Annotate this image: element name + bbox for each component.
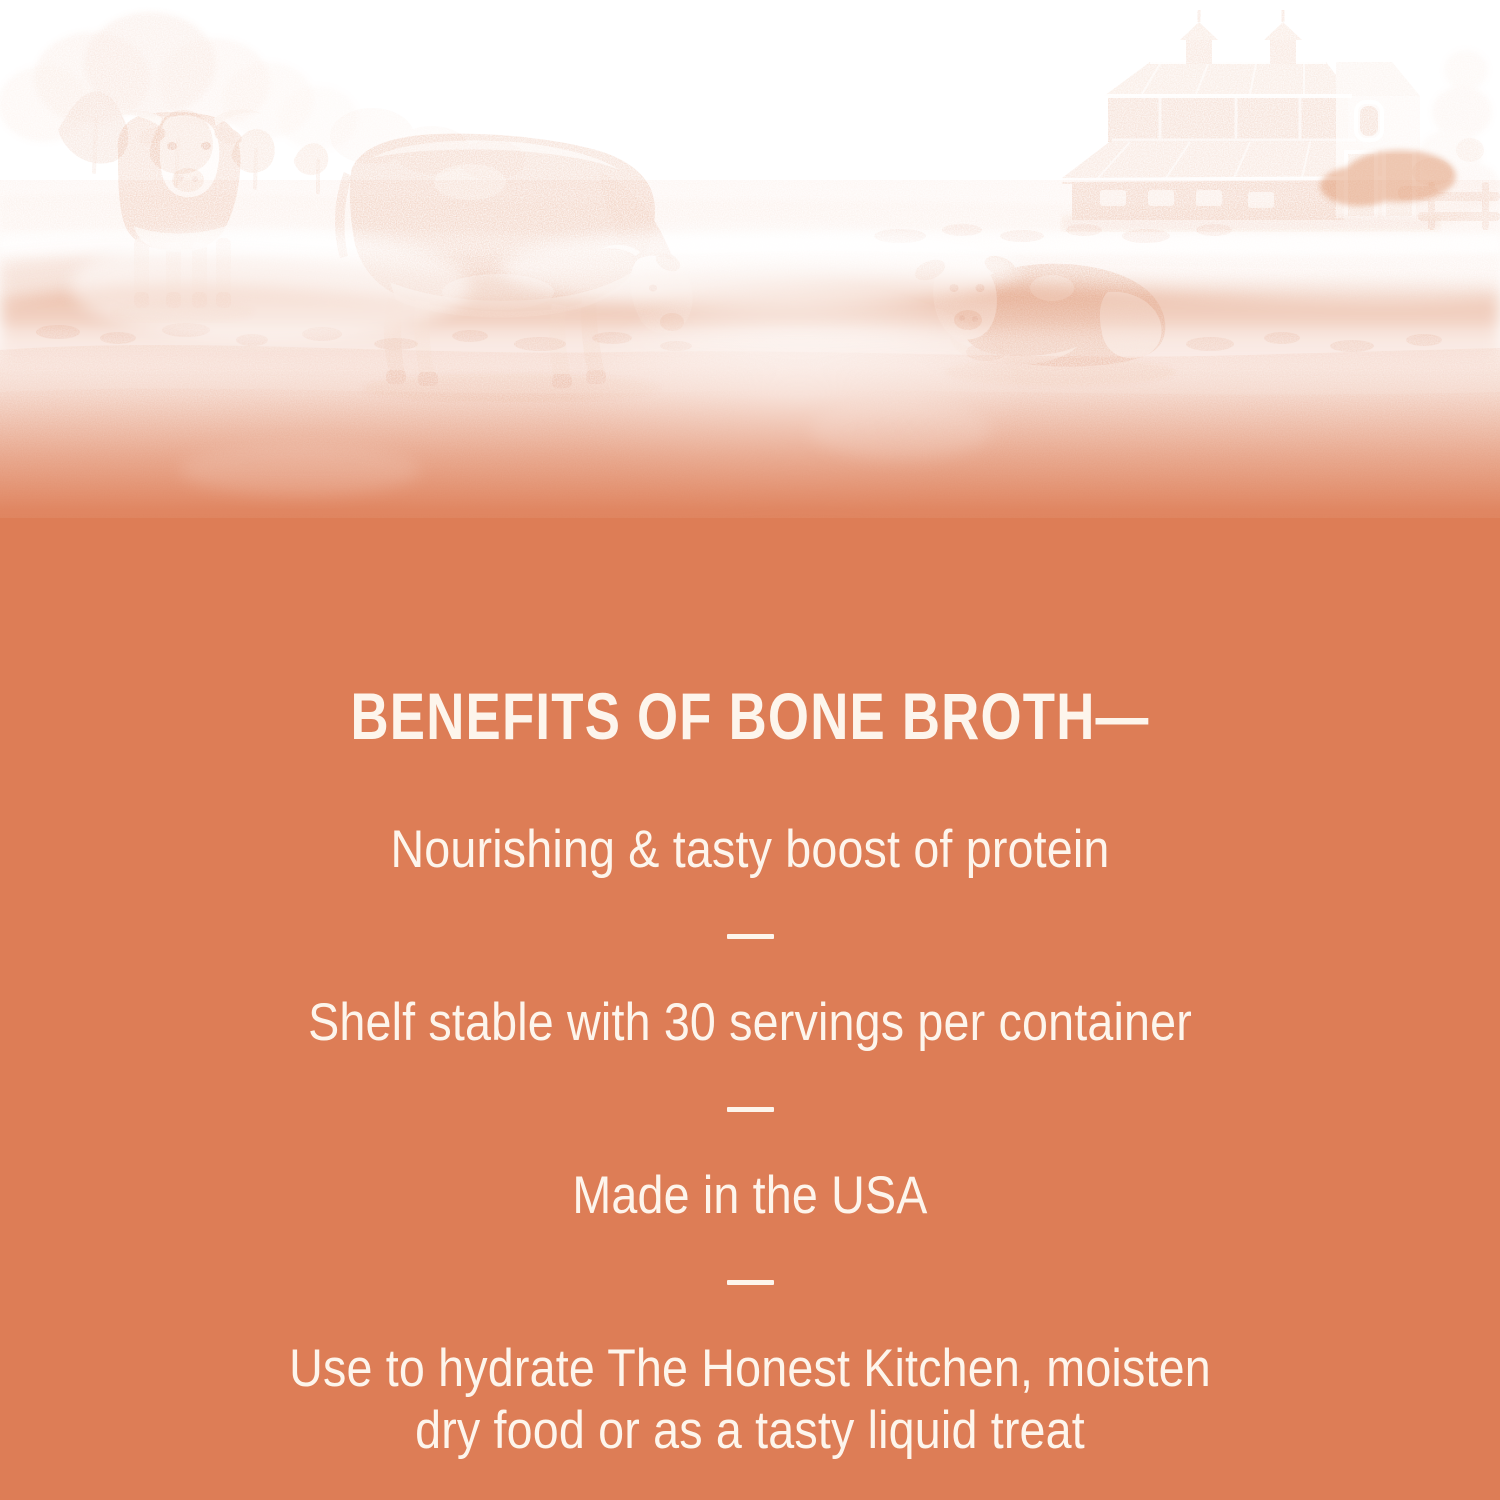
benefit-item-made-in-usa: Made in the USA bbox=[178, 1165, 1322, 1227]
benefit-separator bbox=[727, 934, 774, 939]
benefits-section: BENEFITS OF BONE BROTH— Nourishing & tas… bbox=[0, 518, 1500, 1500]
farm-illustration bbox=[0, 0, 1500, 560]
product-benefits-panel: BENEFITS OF BONE BROTH— Nourishing & tas… bbox=[0, 0, 1500, 1500]
benefit-item-protein: Nourishing & tasty boost of protein bbox=[178, 819, 1322, 881]
benefits-list: Nourishing & tasty boost of protein Shel… bbox=[100, 766, 1400, 1500]
benefit-item-shelf-stable: Shelf stable with 30 servings per contai… bbox=[178, 992, 1322, 1054]
benefits-heading: BENEFITS OF BONE BROTH— bbox=[230, 683, 1270, 749]
benefit-separator bbox=[727, 1107, 774, 1112]
benefit-item-usage: Use to hydrate The Honest Kitchen, moist… bbox=[178, 1338, 1322, 1462]
benefit-separator bbox=[727, 1280, 774, 1285]
